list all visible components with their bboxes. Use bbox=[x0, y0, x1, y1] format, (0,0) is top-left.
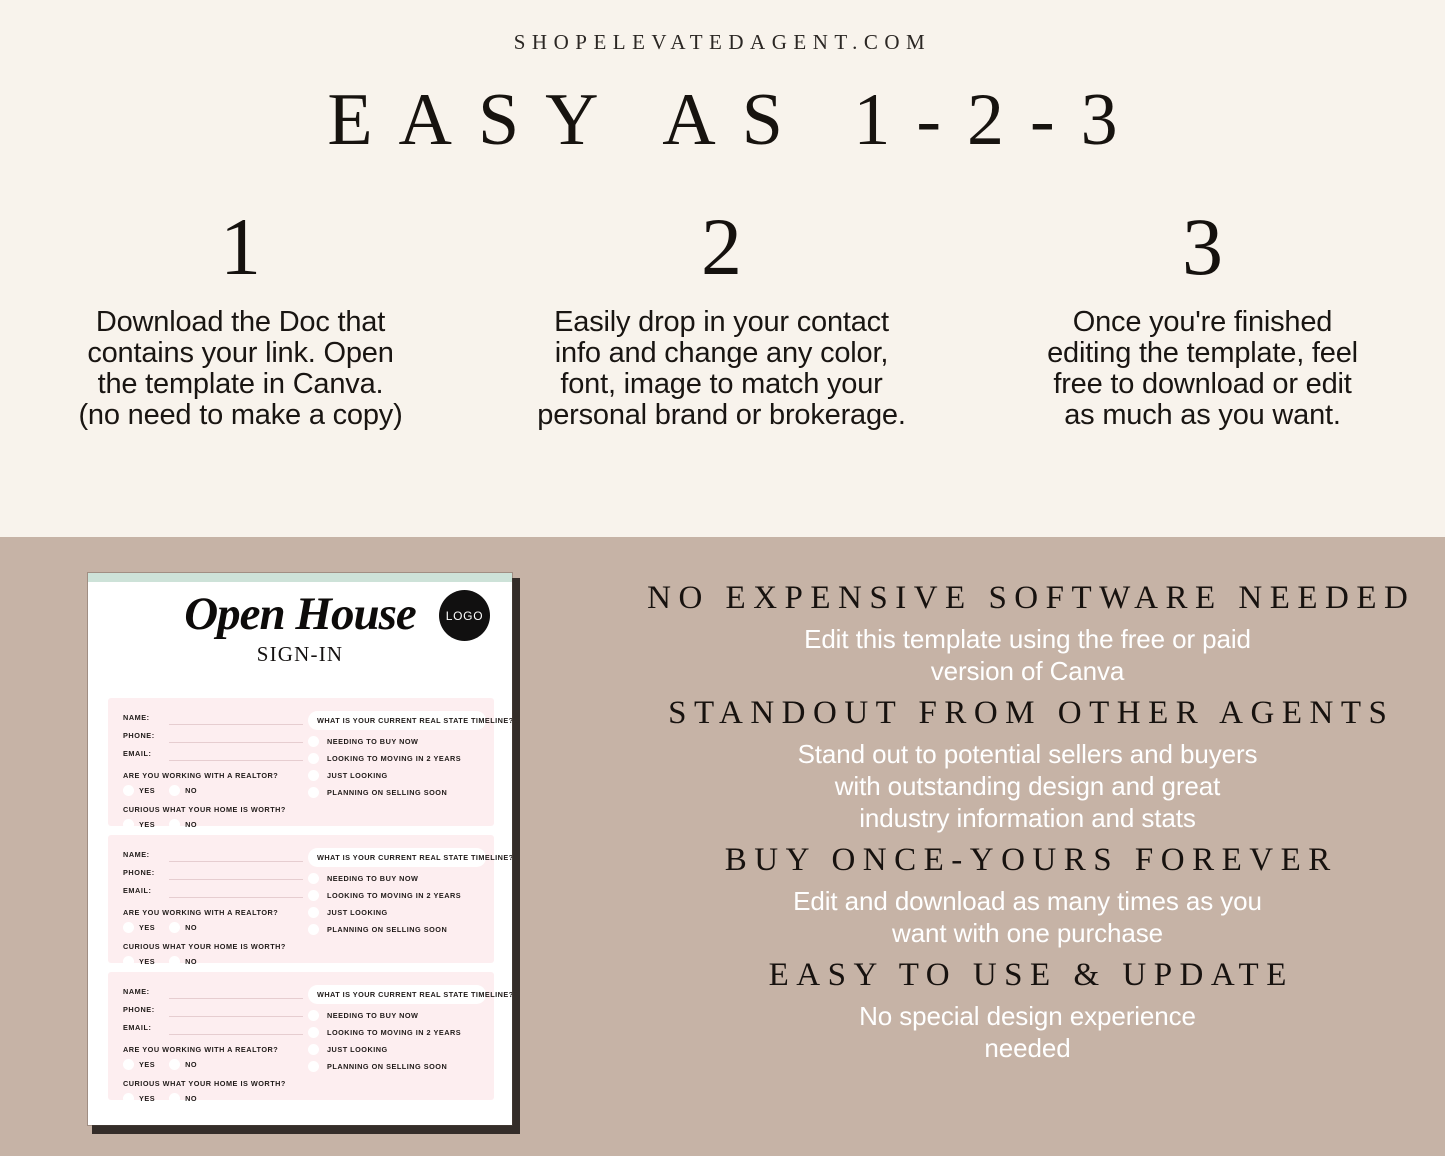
radio-icon[interactable] bbox=[308, 1061, 319, 1072]
yesno-group: YES NO bbox=[123, 956, 303, 967]
field-row: EMAIL: bbox=[123, 884, 303, 899]
logo-badge: LOGO bbox=[439, 590, 490, 641]
field-label: PHONE: bbox=[123, 731, 155, 740]
timeline-option: PLANNING ON SELLING SOON bbox=[308, 1061, 486, 1072]
field-label: NAME: bbox=[123, 850, 150, 859]
radio-icon[interactable] bbox=[308, 1027, 319, 1038]
option-label: NO bbox=[185, 1094, 197, 1103]
step-description: Easily drop in your contact info and cha… bbox=[537, 307, 905, 431]
field-rule[interactable] bbox=[169, 897, 303, 898]
benefit-heading: STANDOUT FROM OTHER AGENTS bbox=[620, 692, 1435, 734]
radio-icon[interactable] bbox=[308, 1010, 319, 1021]
field-row: EMAIL: bbox=[123, 747, 303, 762]
field-label: EMAIL: bbox=[123, 886, 151, 895]
steps-row: 1 Download the Doc that contains your li… bbox=[0, 205, 1445, 431]
field-rule[interactable] bbox=[169, 742, 303, 743]
radio-icon[interactable] bbox=[308, 770, 319, 781]
field-rule[interactable] bbox=[169, 998, 303, 999]
signin-block: NAME: PHONE: EMAIL: ARE YOU WORKING WITH… bbox=[108, 972, 494, 1100]
document-paper: Open House SIGN-IN LOGO NAME: PHONE: EMA… bbox=[88, 573, 512, 1125]
field-row: PHONE: bbox=[123, 1003, 303, 1018]
radio-icon[interactable] bbox=[308, 736, 319, 747]
step-number: 1 bbox=[220, 205, 261, 289]
timeline-option: LOOKING TO MOVING IN 2 YEARS bbox=[308, 890, 486, 901]
radio-icon[interactable] bbox=[308, 907, 319, 918]
radio-icon[interactable] bbox=[123, 1059, 134, 1070]
timeline-column: WHAT IS YOUR CURRENT REAL STATE TIMELINE… bbox=[308, 848, 486, 935]
field-rule[interactable] bbox=[169, 1016, 303, 1017]
document-subtitle: SIGN-IN bbox=[88, 642, 512, 667]
option-label: NO bbox=[185, 1060, 197, 1069]
signin-block: NAME: PHONE: EMAIL: ARE YOU WORKING WITH… bbox=[108, 835, 494, 963]
option-label: YES bbox=[139, 786, 155, 795]
timeline-option: JUST LOOKING bbox=[308, 907, 486, 918]
field-rule[interactable] bbox=[169, 879, 303, 880]
benefit-body: Edit and download as many times as you w… bbox=[620, 885, 1435, 949]
option-label: NO bbox=[185, 786, 197, 795]
document-header: Open House SIGN-IN LOGO bbox=[88, 582, 512, 688]
benefit-item: NO EXPENSIVE SOFTWARE NEEDED Edit this t… bbox=[620, 577, 1435, 687]
timeline-question: WHAT IS YOUR CURRENT REAL STATE TIMELINE… bbox=[308, 848, 486, 867]
benefit-item: EASY TO USE & UPDATE No special design e… bbox=[620, 954, 1435, 1064]
timeline-question: WHAT IS YOUR CURRENT REAL STATE TIMELINE… bbox=[308, 985, 486, 1004]
question-realtor: ARE YOU WORKING WITH A REALTOR? bbox=[123, 908, 303, 917]
timeline-option: NEEDING TO BUY NOW bbox=[308, 873, 486, 884]
option-label: NO bbox=[185, 957, 197, 966]
field-label: PHONE: bbox=[123, 868, 155, 877]
option-label: NEEDING TO BUY NOW bbox=[327, 874, 418, 883]
option-label: YES bbox=[139, 1094, 155, 1103]
radio-icon[interactable] bbox=[123, 922, 134, 933]
benefit-body: Edit this template using the free or pai… bbox=[620, 623, 1435, 687]
field-row: NAME: bbox=[123, 711, 303, 726]
radio-icon[interactable] bbox=[308, 873, 319, 884]
field-rule[interactable] bbox=[169, 760, 303, 761]
signin-block: NAME: PHONE: EMAIL: ARE YOU WORKING WITH… bbox=[108, 698, 494, 826]
radio-icon[interactable] bbox=[308, 890, 319, 901]
option-label: LOOKING TO MOVING IN 2 YEARS bbox=[327, 1028, 461, 1037]
radio-icon[interactable] bbox=[123, 785, 134, 796]
option-label: NO bbox=[185, 923, 197, 932]
document-preview: Open House SIGN-IN LOGO NAME: PHONE: EMA… bbox=[88, 573, 516, 1129]
radio-icon[interactable] bbox=[308, 787, 319, 798]
option-label: YES bbox=[139, 820, 155, 829]
benefit-heading: EASY TO USE & UPDATE bbox=[620, 954, 1435, 996]
document-accent-bar bbox=[88, 573, 512, 582]
radio-icon[interactable] bbox=[308, 924, 319, 935]
timeline-option: LOOKING TO MOVING IN 2 YEARS bbox=[308, 753, 486, 764]
option-label: YES bbox=[139, 1060, 155, 1069]
field-row: PHONE: bbox=[123, 866, 303, 881]
timeline-column: WHAT IS YOUR CURRENT REAL STATE TIMELINE… bbox=[308, 711, 486, 798]
radio-icon[interactable] bbox=[123, 819, 134, 830]
radio-icon[interactable] bbox=[169, 819, 180, 830]
step-number: 2 bbox=[701, 205, 742, 289]
step-description: Once you're finished editing the templat… bbox=[1047, 307, 1358, 431]
field-label: NAME: bbox=[123, 987, 150, 996]
yesno-group: YES NO bbox=[123, 922, 303, 933]
radio-icon[interactable] bbox=[169, 922, 180, 933]
yesno-group: YES NO bbox=[123, 1059, 303, 1070]
site-url: SHOPELEVATEDAGENT.COM bbox=[0, 30, 1445, 55]
field-label: PHONE: bbox=[123, 1005, 155, 1014]
step-1: 1 Download the Doc that contains your li… bbox=[0, 205, 481, 431]
field-label: EMAIL: bbox=[123, 1023, 151, 1032]
benefit-body: Stand out to potential sellers and buyer… bbox=[620, 738, 1435, 834]
radio-icon[interactable] bbox=[169, 1093, 180, 1104]
radio-icon[interactable] bbox=[169, 785, 180, 796]
step-2: 2 Easily drop in your contact info and c… bbox=[481, 205, 962, 431]
yesno-group: YES NO bbox=[123, 785, 303, 796]
field-row: NAME: bbox=[123, 848, 303, 863]
radio-icon[interactable] bbox=[123, 1093, 134, 1104]
timeline-option: NEEDING TO BUY NOW bbox=[308, 736, 486, 747]
radio-icon[interactable] bbox=[123, 956, 134, 967]
option-label: YES bbox=[139, 923, 155, 932]
option-label: PLANNING ON SELLING SOON bbox=[327, 788, 447, 797]
benefit-body: No special design experience needed bbox=[620, 1000, 1435, 1064]
step-description: Download the Doc that contains your link… bbox=[78, 307, 402, 431]
field-rule[interactable] bbox=[169, 1034, 303, 1035]
signin-fields-column: NAME: PHONE: EMAIL: ARE YOU WORKING WITH… bbox=[123, 711, 303, 832]
option-label: YES bbox=[139, 957, 155, 966]
radio-icon[interactable] bbox=[308, 753, 319, 764]
signin-fields-column: NAME: PHONE: EMAIL: ARE YOU WORKING WITH… bbox=[123, 985, 303, 1106]
option-label: PLANNING ON SELLING SOON bbox=[327, 925, 447, 934]
radio-icon[interactable] bbox=[308, 1044, 319, 1055]
question-home-worth: CURIOUS WHAT YOUR HOME IS WORTH? bbox=[123, 942, 303, 951]
option-label: NEEDING TO BUY NOW bbox=[327, 737, 418, 746]
yesno-group: YES NO bbox=[123, 1093, 303, 1104]
signin-fields-column: NAME: PHONE: EMAIL: ARE YOU WORKING WITH… bbox=[123, 848, 303, 969]
option-label: LOOKING TO MOVING IN 2 YEARS bbox=[327, 754, 461, 763]
question-home-worth: CURIOUS WHAT YOUR HOME IS WORTH? bbox=[123, 1079, 303, 1088]
question-realtor: ARE YOU WORKING WITH A REALTOR? bbox=[123, 771, 303, 780]
timeline-column: WHAT IS YOUR CURRENT REAL STATE TIMELINE… bbox=[308, 985, 486, 1072]
timeline-option: NEEDING TO BUY NOW bbox=[308, 1010, 486, 1021]
top-section: SHOPELEVATEDAGENT.COM EASY AS 1-2-3 1 Do… bbox=[0, 0, 1445, 537]
option-label: NEEDING TO BUY NOW bbox=[327, 1011, 418, 1020]
benefit-heading: BUY ONCE-YOURS FOREVER bbox=[620, 839, 1435, 881]
field-row: EMAIL: bbox=[123, 1021, 303, 1036]
page-title: EASY AS 1-2-3 bbox=[0, 78, 1445, 163]
option-label: JUST LOOKING bbox=[327, 1045, 388, 1054]
benefit-item: BUY ONCE-YOURS FOREVER Edit and download… bbox=[620, 839, 1435, 949]
option-label: PLANNING ON SELLING SOON bbox=[327, 1062, 447, 1071]
step-number: 3 bbox=[1182, 205, 1223, 289]
promo-page: SHOPELEVATEDAGENT.COM EASY AS 1-2-3 1 Do… bbox=[0, 0, 1445, 1156]
bottom-section: Open House SIGN-IN LOGO NAME: PHONE: EMA… bbox=[0, 537, 1445, 1156]
benefit-item: STANDOUT FROM OTHER AGENTS Stand out to … bbox=[620, 692, 1435, 834]
benefits-list: NO EXPENSIVE SOFTWARE NEEDED Edit this t… bbox=[620, 577, 1435, 1069]
timeline-option: LOOKING TO MOVING IN 2 YEARS bbox=[308, 1027, 486, 1038]
yesno-group: YES NO bbox=[123, 819, 303, 830]
field-label: NAME: bbox=[123, 713, 150, 722]
option-label: LOOKING TO MOVING IN 2 YEARS bbox=[327, 891, 461, 900]
option-label: NO bbox=[185, 820, 197, 829]
timeline-question: WHAT IS YOUR CURRENT REAL STATE TIMELINE… bbox=[308, 711, 486, 730]
field-rule[interactable] bbox=[169, 861, 303, 862]
option-label: JUST LOOKING bbox=[327, 771, 388, 780]
timeline-option: PLANNING ON SELLING SOON bbox=[308, 924, 486, 935]
step-3: 3 Once you're finished editing the templ… bbox=[962, 205, 1443, 431]
timeline-option: PLANNING ON SELLING SOON bbox=[308, 787, 486, 798]
question-realtor: ARE YOU WORKING WITH A REALTOR? bbox=[123, 1045, 303, 1054]
radio-icon[interactable] bbox=[169, 1059, 180, 1070]
option-label: JUST LOOKING bbox=[327, 908, 388, 917]
field-row: PHONE: bbox=[123, 729, 303, 744]
field-label: EMAIL: bbox=[123, 749, 151, 758]
timeline-option: JUST LOOKING bbox=[308, 770, 486, 781]
question-home-worth: CURIOUS WHAT YOUR HOME IS WORTH? bbox=[123, 805, 303, 814]
field-row: NAME: bbox=[123, 985, 303, 1000]
benefit-heading: NO EXPENSIVE SOFTWARE NEEDED bbox=[620, 577, 1435, 619]
timeline-option: JUST LOOKING bbox=[308, 1044, 486, 1055]
field-rule[interactable] bbox=[169, 724, 303, 725]
radio-icon[interactable] bbox=[169, 956, 180, 967]
